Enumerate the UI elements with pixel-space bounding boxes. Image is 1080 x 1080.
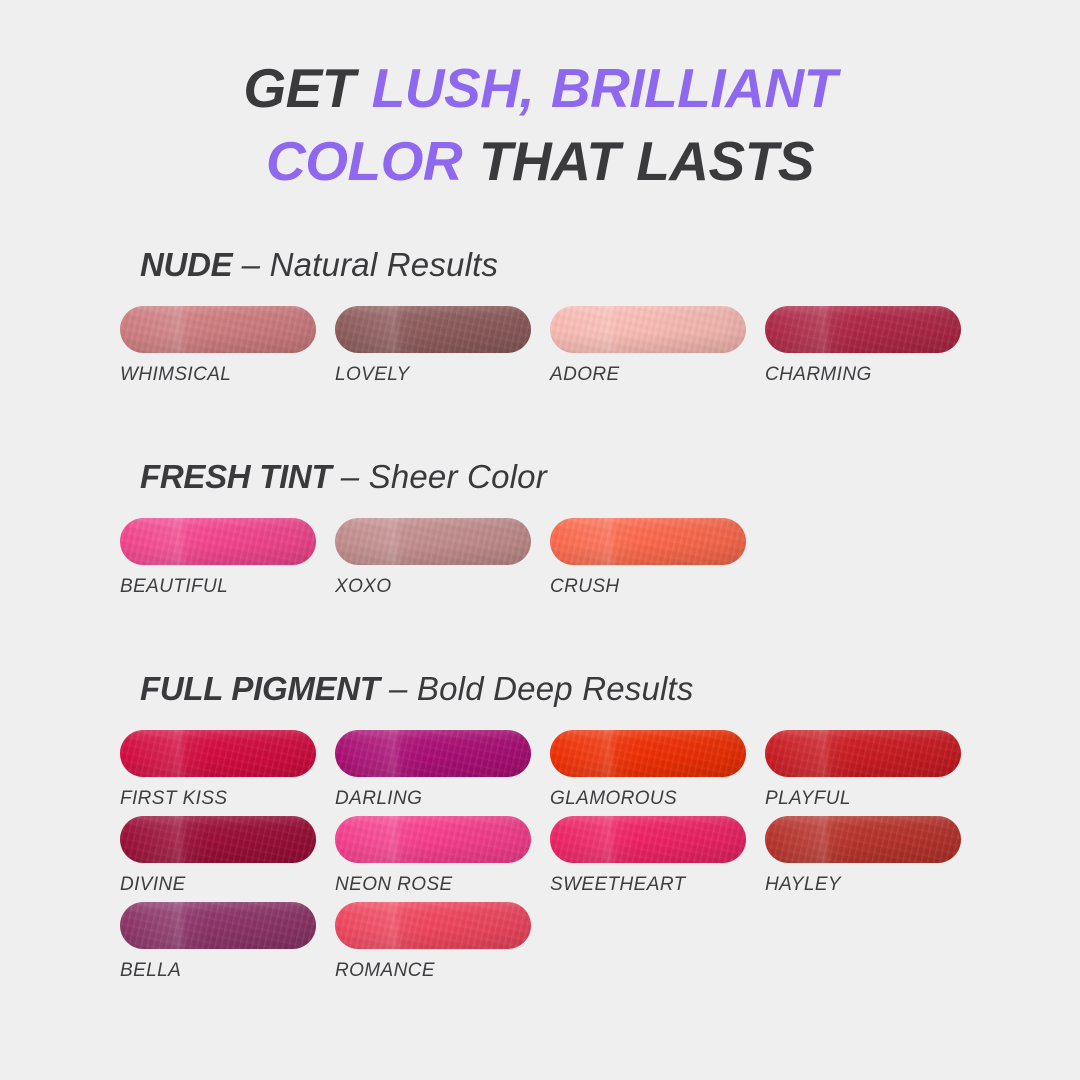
section-title-fresh-tint: FRESH TINT – Sheer Color	[140, 458, 980, 496]
swatch-grid-nude: WHIMSICAL LOVELY ADORE CHARMING	[120, 306, 980, 386]
section-name-full-pigment: FULL PIGMENT	[140, 670, 380, 707]
swatch-texture-overlay	[335, 730, 531, 777]
swatch-cell[interactable]: CHARMING	[765, 306, 980, 386]
swatch-texture-overlay	[550, 518, 746, 565]
swatch-sheen-overlay	[120, 518, 316, 565]
swatch-cell[interactable]: SWEETHEART	[550, 816, 765, 896]
swatch-sheen-overlay	[335, 902, 531, 949]
swatch-cell[interactable]: WHIMSICAL	[120, 306, 335, 386]
swatch-texture-overlay	[120, 306, 316, 353]
swatch-cell[interactable]: HAYLEY	[765, 816, 980, 896]
color-swatch[interactable]	[120, 306, 316, 353]
headline-color: COLOR	[266, 130, 462, 192]
swatch-label: BEAUTIFUL	[120, 576, 335, 598]
color-swatch[interactable]	[120, 902, 316, 949]
color-swatch[interactable]	[120, 816, 316, 863]
swatch-cell[interactable]: BEAUTIFUL	[120, 518, 335, 598]
swatch-label: DARLING	[335, 788, 550, 810]
section-nude: NUDE – Natural Results WHIMSICAL LOVELY …	[120, 246, 980, 386]
swatch-label: FIRST KISS	[120, 788, 335, 810]
swatch-grid-fresh-tint: BEAUTIFUL XOXO CRUSH	[120, 518, 980, 598]
swatch-cell[interactable]: CRUSH	[550, 518, 765, 598]
section-subtitle-fresh-tint: – Sheer Color	[331, 458, 547, 495]
swatch-label: ROMANCE	[335, 960, 550, 982]
color-swatch[interactable]	[335, 306, 531, 353]
color-swatch[interactable]	[335, 730, 531, 777]
headline-lush-brilliant: LUSH, BRILLIANT	[372, 57, 837, 119]
swatch-label: SWEETHEART	[550, 874, 765, 896]
swatch-cell[interactable]: DIVINE	[120, 816, 335, 896]
color-swatch[interactable]	[550, 816, 746, 863]
swatch-label: DIVINE	[120, 874, 335, 896]
section-fresh-tint: FRESH TINT – Sheer Color BEAUTIFUL XOXO …	[120, 458, 980, 598]
color-swatch[interactable]	[120, 730, 316, 777]
swatch-cell[interactable]: NEON ROSE	[335, 816, 550, 896]
swatch-cell[interactable]: FIRST KISS	[120, 730, 335, 810]
swatch-texture-overlay	[120, 816, 316, 863]
swatch-label: XOXO	[335, 576, 550, 598]
swatch-cell[interactable]: DARLING	[335, 730, 550, 810]
section-full-pigment: FULL PIGMENT – Bold Deep Results FIRST K…	[120, 670, 980, 982]
section-name-nude: NUDE	[140, 246, 232, 283]
swatch-sheen-overlay	[120, 730, 316, 777]
swatch-texture-overlay	[120, 518, 316, 565]
swatch-texture-overlay	[335, 902, 531, 949]
swatch-texture-overlay	[765, 816, 961, 863]
swatch-label: GLAMOROUS	[550, 788, 765, 810]
section-name-fresh-tint: FRESH TINT	[140, 458, 331, 495]
headline-that-lasts: THAT LASTS	[462, 130, 814, 192]
swatch-label: LOVELY	[335, 364, 550, 386]
color-swatch[interactable]	[120, 518, 316, 565]
color-swatch[interactable]	[765, 306, 961, 353]
headline-line-2: COLOR THAT LASTS	[0, 125, 1080, 198]
color-swatch[interactable]	[550, 730, 746, 777]
section-subtitle-nude: – Natural Results	[232, 246, 498, 283]
section-title-full-pigment: FULL PIGMENT – Bold Deep Results	[140, 670, 980, 708]
page-title: GET LUSH, BRILLIANT COLOR THAT LASTS	[0, 0, 1080, 198]
swatch-label: HAYLEY	[765, 874, 980, 896]
swatch-sheen-overlay	[765, 306, 961, 353]
swatch-cell[interactable]: XOXO	[335, 518, 550, 598]
section-subtitle-full-pigment: – Bold Deep Results	[380, 670, 694, 707]
color-swatch[interactable]	[550, 518, 746, 565]
swatch-texture-overlay	[550, 306, 746, 353]
swatch-sheen-overlay	[550, 306, 746, 353]
swatch-sheen-overlay	[550, 816, 746, 863]
section-title-nude: NUDE – Natural Results	[140, 246, 980, 284]
swatch-texture-overlay	[335, 816, 531, 863]
swatch-sheen-overlay	[120, 902, 316, 949]
swatch-cell[interactable]: LOVELY	[335, 306, 550, 386]
color-swatch[interactable]	[550, 306, 746, 353]
swatch-label: WHIMSICAL	[120, 364, 335, 386]
swatch-label: CRUSH	[550, 576, 765, 598]
swatch-label: CHARMING	[765, 364, 980, 386]
color-swatch[interactable]	[765, 730, 961, 777]
headline-line-1: GET LUSH, BRILLIANT	[0, 52, 1080, 125]
headline-get: GET	[243, 57, 371, 119]
shade-sections: NUDE – Natural Results WHIMSICAL LOVELY …	[0, 246, 1080, 982]
swatch-sheen-overlay	[335, 730, 531, 777]
poster-canvas: GET LUSH, BRILLIANT COLOR THAT LASTS NUD…	[0, 0, 1080, 1080]
swatch-texture-overlay	[550, 816, 746, 863]
swatch-label: NEON ROSE	[335, 874, 550, 896]
swatch-texture-overlay	[335, 306, 531, 353]
swatch-cell[interactable]: BELLA	[120, 902, 335, 982]
swatch-cell[interactable]: ADORE	[550, 306, 765, 386]
color-swatch[interactable]	[335, 902, 531, 949]
swatch-cell[interactable]: GLAMOROUS	[550, 730, 765, 810]
swatch-texture-overlay	[335, 518, 531, 565]
swatch-sheen-overlay	[335, 306, 531, 353]
color-swatch[interactable]	[765, 816, 961, 863]
swatch-texture-overlay	[120, 730, 316, 777]
swatch-sheen-overlay	[120, 816, 316, 863]
swatch-cell[interactable]: PLAYFUL	[765, 730, 980, 810]
swatch-sheen-overlay	[120, 306, 316, 353]
swatch-label: BELLA	[120, 960, 335, 982]
color-swatch[interactable]	[335, 816, 531, 863]
swatch-sheen-overlay	[550, 730, 746, 777]
swatch-sheen-overlay	[550, 518, 746, 565]
swatch-cell[interactable]: ROMANCE	[335, 902, 550, 982]
swatch-texture-overlay	[765, 730, 961, 777]
swatch-texture-overlay	[120, 902, 316, 949]
color-swatch[interactable]	[335, 518, 531, 565]
swatch-sheen-overlay	[765, 816, 961, 863]
swatch-sheen-overlay	[335, 816, 531, 863]
swatch-sheen-overlay	[335, 518, 531, 565]
swatch-label: ADORE	[550, 364, 765, 386]
swatch-sheen-overlay	[765, 730, 961, 777]
swatch-grid-full-pigment: FIRST KISS DARLING GLAMOROUS PLAYFUL DIV…	[120, 730, 980, 982]
swatch-label: PLAYFUL	[765, 788, 980, 810]
swatch-texture-overlay	[765, 306, 961, 353]
swatch-texture-overlay	[550, 730, 746, 777]
